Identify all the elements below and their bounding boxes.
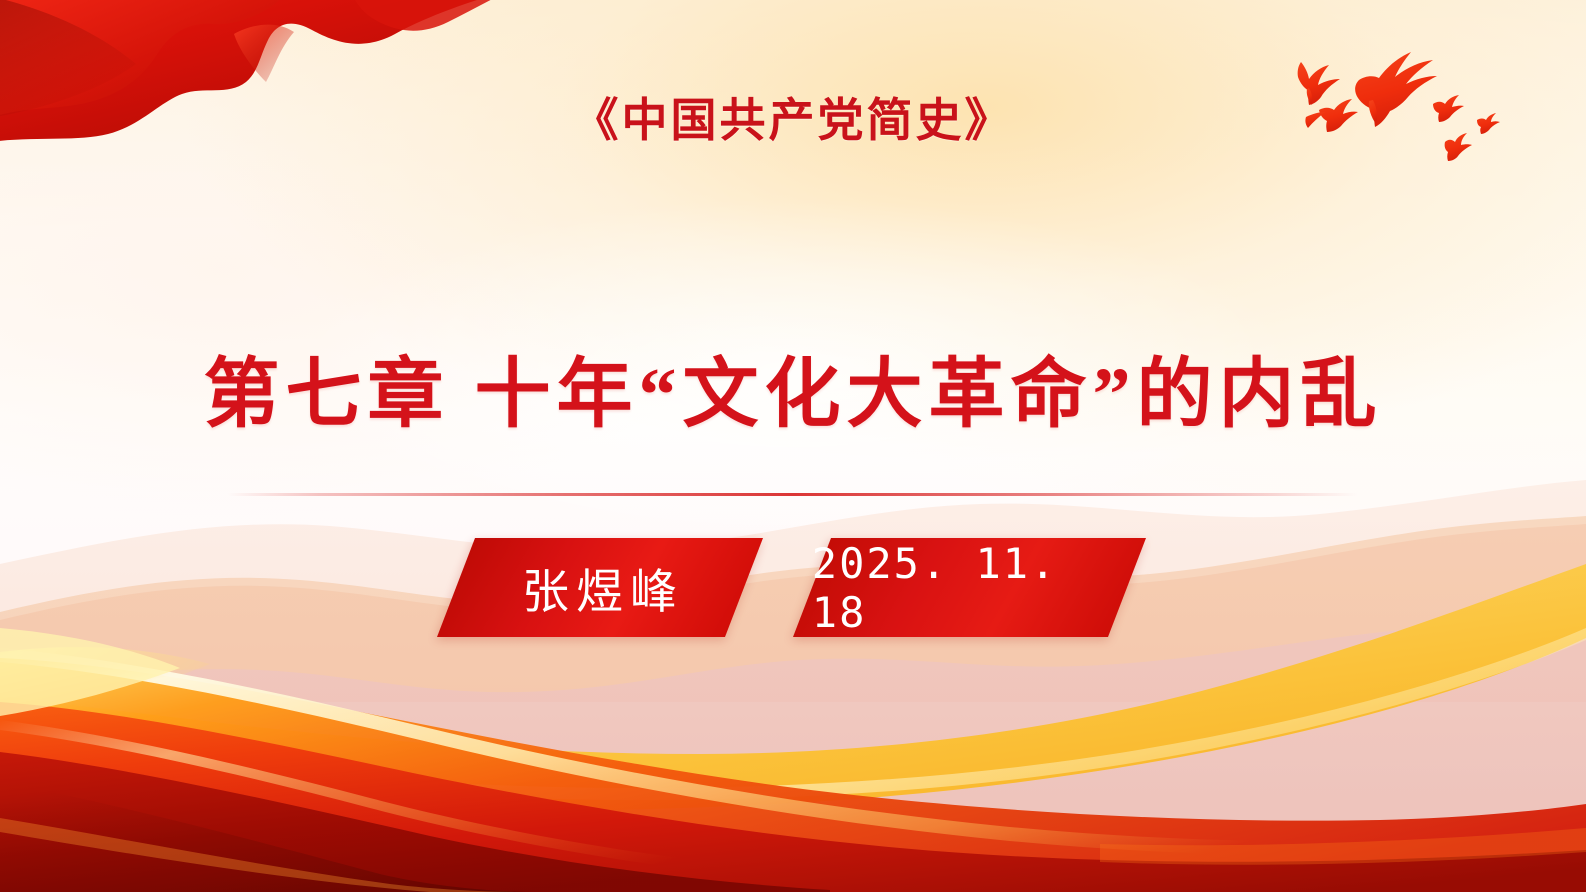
presentation-date: 2025. 11. 18: [812, 539, 1127, 637]
presentation-slide: 《中国共产党简史》 第七章 十年“文化大革命”的内乱 张煜峰 2025. 11.…: [0, 0, 1586, 892]
presenter-banner[interactable]: 张煜峰: [437, 538, 763, 637]
chapter-title: 第七章 十年“文化大革命”的内乱: [0, 332, 1586, 442]
title-divider: [228, 493, 1358, 496]
banner-row: 张煜峰 2025. 11. 18: [0, 538, 1586, 640]
book-title: 《中国共产党简史》: [0, 84, 1586, 150]
presenter-name: 张煜峰: [516, 553, 684, 622]
date-banner[interactable]: 2025. 11. 18: [793, 538, 1146, 637]
slide-content: 《中国共产党简史》 第七章 十年“文化大革命”的内乱 张煜峰 2025. 11.…: [0, 0, 1586, 892]
